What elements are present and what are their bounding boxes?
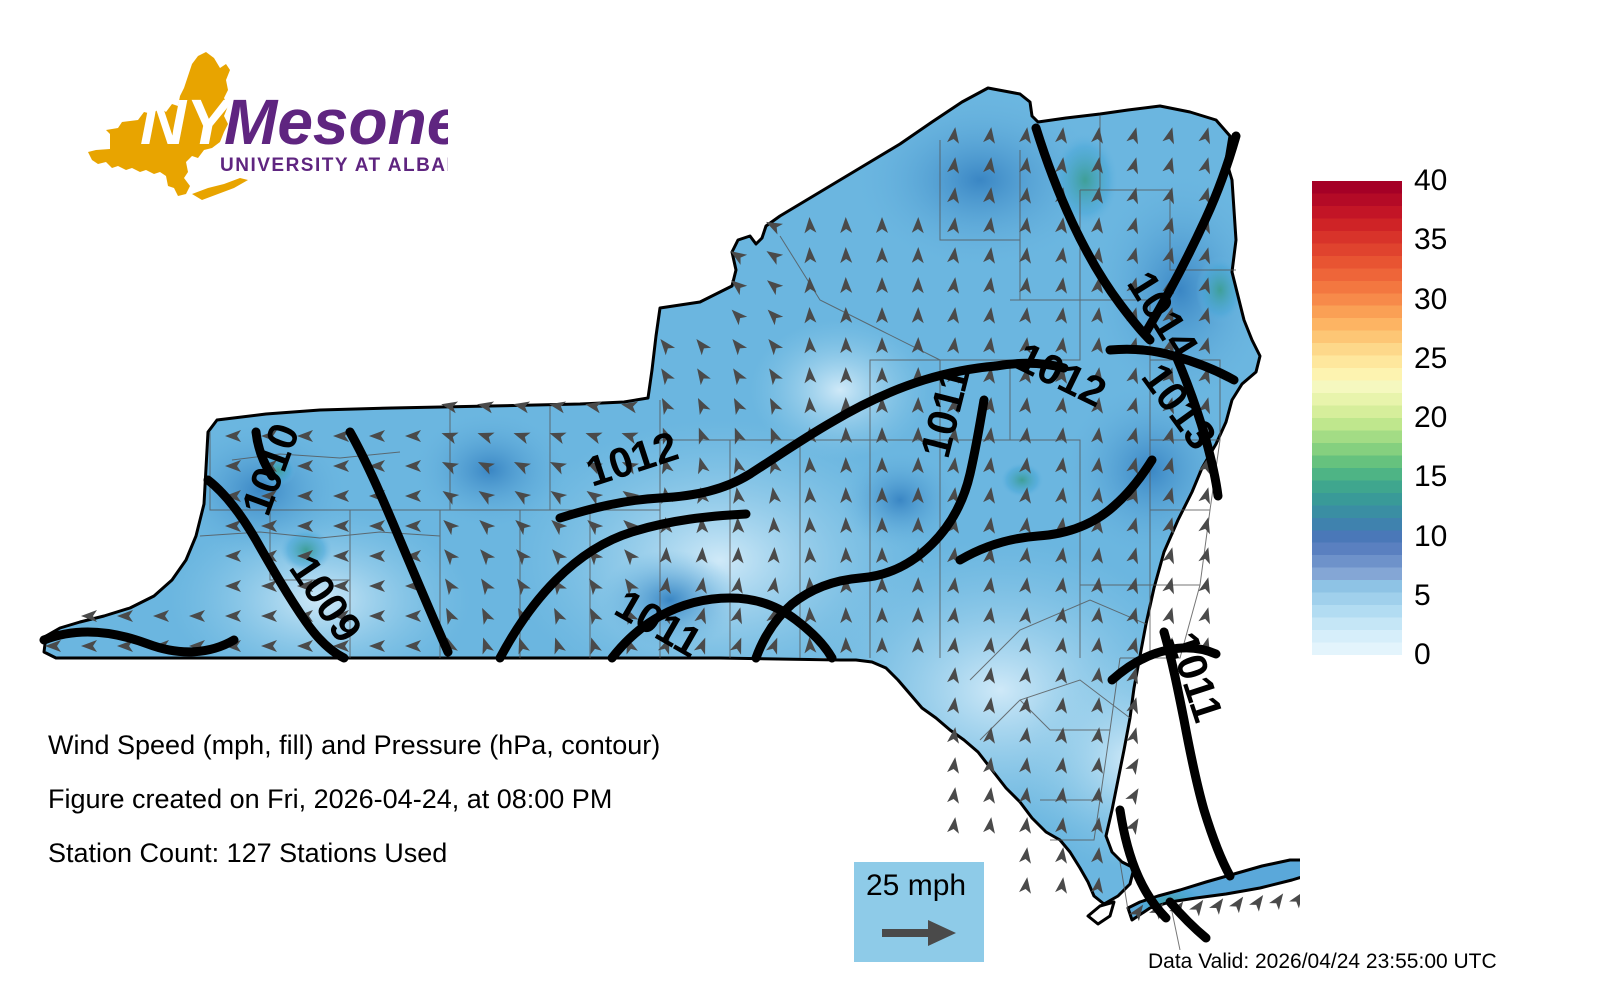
wind-arrow-icon [983,786,997,804]
colorbar-tick-30: 30 [1414,285,1447,315]
colorbar-tick-0: 0 [1414,640,1431,670]
colorbar-gradient [1312,181,1402,655]
colorbar-tick-5: 5 [1414,581,1431,611]
caption-station-count: Station Count: 127 Stations Used [48,826,848,880]
wind-arrow-icon [947,756,961,774]
wind-arrow-icon [1249,892,1268,912]
colorbar-tick-25: 25 [1414,344,1447,374]
colorbar-tick-15: 15 [1414,462,1447,492]
wind-reference-legend: 25 mph [854,862,984,962]
windspeed-colorbar: 4035302520151050 [1312,181,1402,655]
wind-arrow-icon [1269,890,1288,910]
wind-reference-label: 25 mph [866,866,966,906]
wind-reference-arrow-icon [882,918,958,948]
colorbar-tick-40: 40 [1414,166,1447,196]
wind-arrow-icon [983,816,997,834]
data-valid-timestamp: Data Valid: 2026/04/24 23:55:00 UTC [1148,950,1497,974]
contour-label-1011-8: 1011 [1159,626,1232,727]
wind-arrow-icon [1125,755,1143,775]
colorbar-tick-35: 35 [1414,225,1447,255]
wind-arrow-icon [1019,846,1033,864]
colorbar-tick-10: 10 [1414,522,1447,552]
caption-block: Wind Speed (mph, fill) and Pressure (hPa… [48,718,848,880]
wind-arrow-icon [1125,785,1143,805]
wind-arrow-icon [1229,893,1248,913]
wind-arrow-icon [1198,516,1214,535]
caption-created: Figure created on Fri, 2026-04-24, at 08… [48,772,848,826]
wind-arrow-icon [1019,876,1033,894]
wind-arrow-icon [947,786,961,804]
wind-arrow-icon [1289,888,1300,908]
wind-arrow-icon [1209,895,1228,915]
wind-arrow-icon [1198,546,1214,565]
caption-title: Wind Speed (mph, fill) and Pressure (hPa… [48,718,848,772]
wind-arrow-icon [1162,606,1178,625]
wind-arrow-icon [947,816,961,834]
wind-arrow-icon [1198,606,1214,625]
wind-arrow-icon [1055,876,1069,894]
colorbar-tick-20: 20 [1414,403,1447,433]
